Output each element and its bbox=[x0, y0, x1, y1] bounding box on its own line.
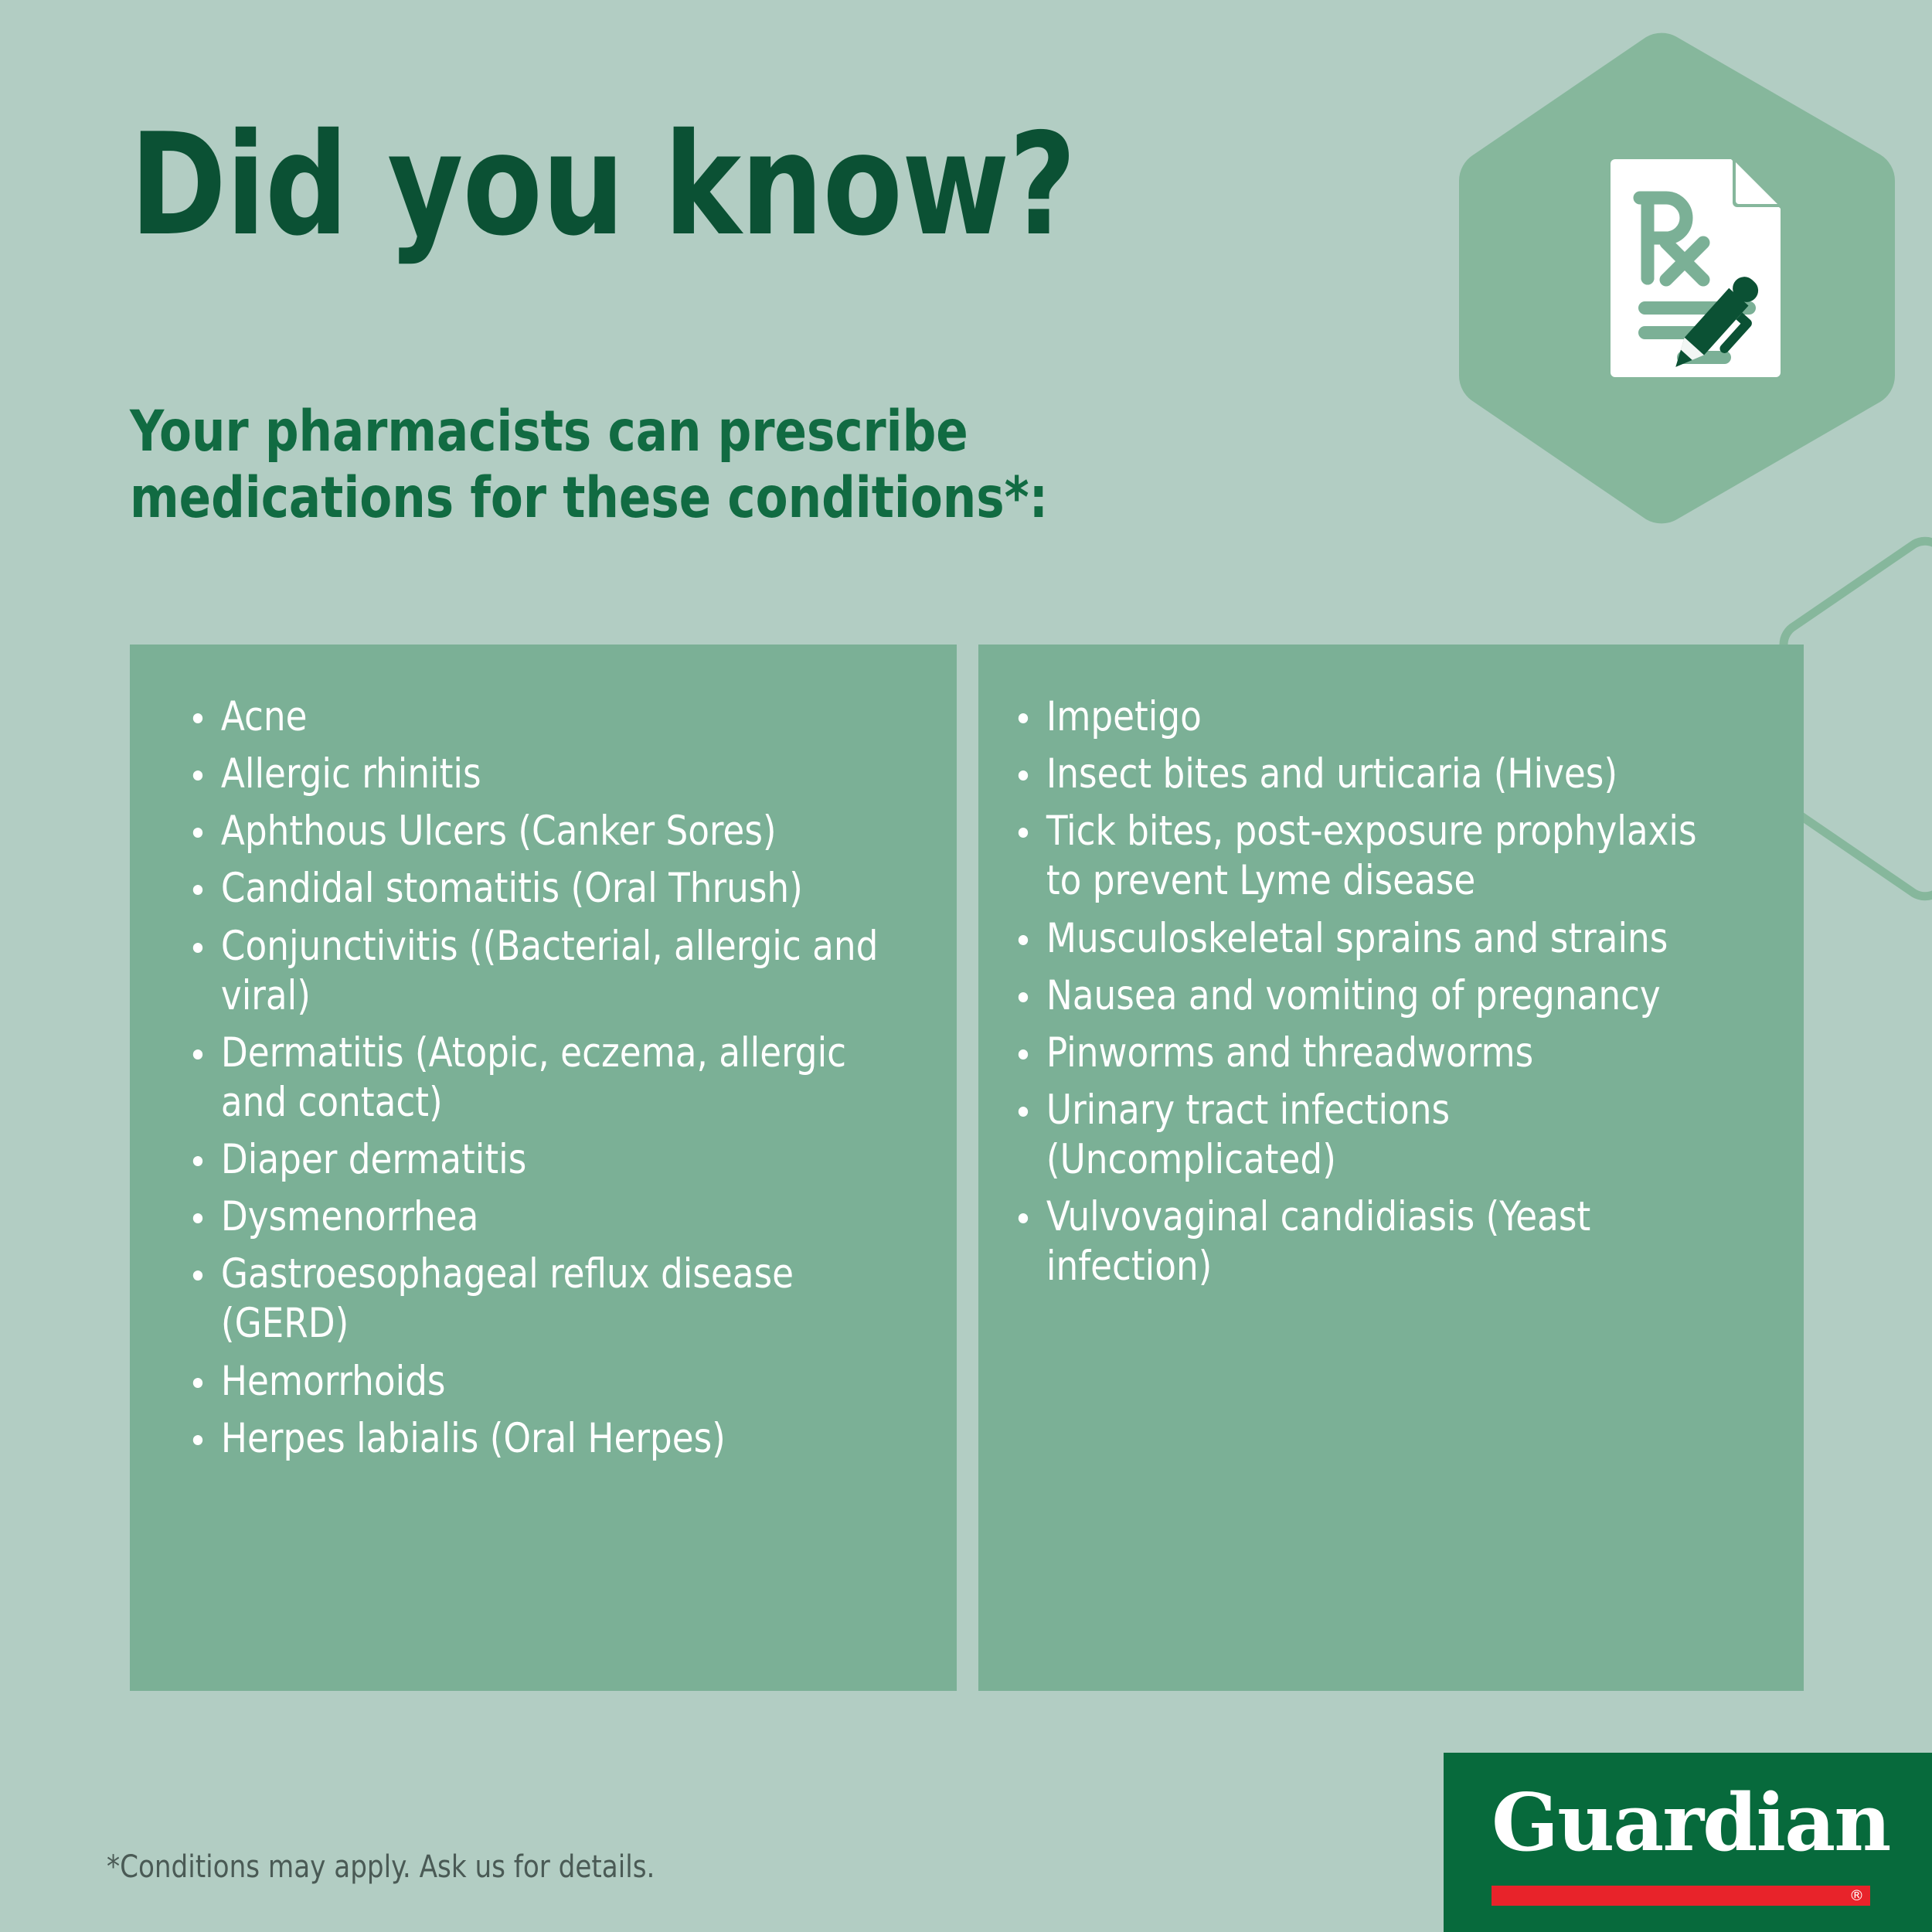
guardian-logo: Guardian ® bbox=[1444, 1753, 1932, 1932]
registered-trademark-icon: ® bbox=[1849, 1887, 1864, 1904]
conditions-panel-left: AcneAllergic rhinitisAphthous Ulcers (Ca… bbox=[130, 645, 957, 1691]
condition-list-item: Candidal stomatitis (Oral Thrush) bbox=[190, 864, 889, 913]
footnote-disclaimer: *Conditions may apply. Ask us for detail… bbox=[107, 1849, 655, 1886]
brand-wordmark: Guardian bbox=[1492, 1784, 1889, 1862]
condition-list-item: Diaper dermatitis bbox=[190, 1135, 889, 1185]
condition-list-item: Tick bites, post-exposure prophylaxis to… bbox=[1015, 807, 1735, 906]
condition-list-item: Gastroesophageal reflux disease (GERD) bbox=[190, 1250, 889, 1349]
brand-red-rule: ® bbox=[1492, 1886, 1870, 1906]
conditions-list-right: ImpetigoInsect bites and urticaria (Hive… bbox=[978, 645, 1804, 1291]
condition-list-item: Pinworms and threadworms bbox=[1015, 1029, 1735, 1078]
condition-list-item: Musculoskeletal sprains and strains bbox=[1015, 914, 1735, 964]
condition-list-item: Conjunctivitis ((Bacterial, allergic and… bbox=[190, 922, 889, 1021]
conditions-list-left: AcneAllergic rhinitisAphthous Ulcers (Ca… bbox=[130, 645, 957, 1464]
condition-list-item: Impetigo bbox=[1015, 692, 1735, 742]
page-subtitle: Your pharmacists can prescribe medicatio… bbox=[130, 399, 1048, 532]
conditions-panel-right: ImpetigoInsect bites and urticaria (Hive… bbox=[978, 645, 1804, 1691]
condition-list-item: Dysmenorrhea bbox=[190, 1192, 889, 1242]
condition-list-item: Dermatitis (Atopic, eczema, allergic and… bbox=[190, 1029, 889, 1128]
condition-list-item: Hemorrhoids bbox=[190, 1357, 889, 1406]
rx-document-with-pen-icon bbox=[1592, 155, 1824, 386]
infographic-poster: Did you know? Your pharmacists can presc… bbox=[0, 0, 1932, 1932]
condition-list-item: Vulvovaginal candidiasis (Yeast infectio… bbox=[1015, 1192, 1735, 1291]
condition-list-item: Insect bites and urticaria (Hives) bbox=[1015, 750, 1735, 799]
condition-list-item: Urinary tract infections (Uncomplicated) bbox=[1015, 1086, 1735, 1185]
condition-list-item: Acne bbox=[190, 692, 889, 742]
condition-list-item: Aphthous Ulcers (Canker Sores) bbox=[190, 807, 889, 856]
page-title: Did you know? bbox=[130, 114, 1076, 255]
condition-list-item: Herpes labialis (Oral Herpes) bbox=[190, 1414, 889, 1464]
condition-list-item: Allergic rhinitis bbox=[190, 750, 889, 799]
condition-list-item: Nausea and vomiting of pregnancy bbox=[1015, 971, 1735, 1021]
